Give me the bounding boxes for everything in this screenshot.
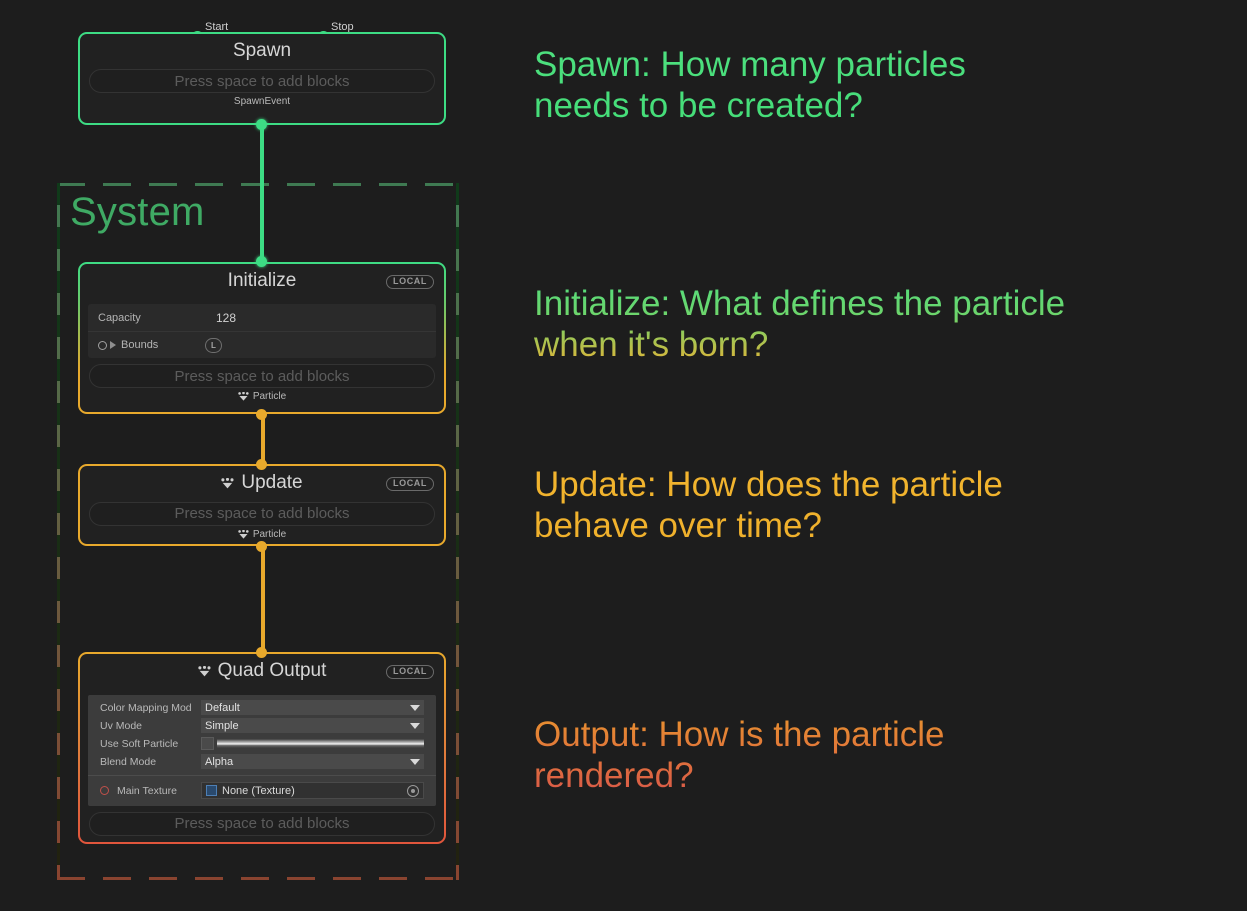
property-row-bounds[interactable]: Bounds L <box>88 331 436 358</box>
particle-icon <box>221 478 234 489</box>
system-group-border-left <box>57 183 60 880</box>
update-output-port[interactable] <box>256 541 267 552</box>
system-group-title[interactable]: System <box>70 192 205 232</box>
initialize-flow-out-label: Particle <box>80 388 444 406</box>
capacity-label: Capacity <box>98 312 216 324</box>
spawn-add-blocks-button[interactable]: Press space to add blocks <box>89 69 435 93</box>
initialize-local-badge: LOCAL <box>386 275 434 289</box>
initialize-input-port[interactable] <box>256 256 267 267</box>
update-node-title-text: Update <box>241 472 302 494</box>
uv-mode-label: Uv Mode <box>100 720 202 732</box>
update-local-badge: LOCAL <box>386 477 434 491</box>
update-add-blocks-button[interactable]: Press space to add blocks <box>89 502 435 526</box>
spawn-flow-out-text: SpawnEvent <box>234 96 290 107</box>
chevron-down-icon <box>410 759 420 765</box>
blend-mode-label: Blend Mode <box>100 756 202 768</box>
main-texture-label: Main Texture <box>117 785 199 797</box>
property-row-blend-mode[interactable]: Blend Mode Alpha <box>88 753 436 771</box>
particle-icon <box>238 530 249 539</box>
quad-output-node-title-text: Quad Output <box>218 660 327 682</box>
property-row-uv-mode[interactable]: Uv Mode Simple <box>88 717 436 735</box>
expander-triangle-icon[interactable] <box>110 341 116 349</box>
initialize-add-blocks-button[interactable]: Press space to add blocks <box>89 364 435 388</box>
use-soft-particle-control[interactable] <box>201 736 424 751</box>
capacity-value[interactable]: 128 <box>216 311 236 325</box>
spawn-node-title-text: Spawn <box>233 40 291 62</box>
update-node-title: Update LOCAL <box>80 466 444 502</box>
spawn-output-port[interactable] <box>256 119 267 130</box>
quad-output-properties-panel: Color Mapping Mod Default Uv Mode Simple… <box>88 695 436 806</box>
initialize-node-title: Initialize LOCAL <box>80 264 444 299</box>
main-texture-object-field[interactable]: None (Texture) <box>201 782 424 799</box>
particle-icon <box>198 666 211 677</box>
uv-mode-value: Simple <box>205 720 239 732</box>
property-row-main-texture[interactable]: Main Texture None (Texture) <box>88 780 436 802</box>
property-row-color-mapping-mode[interactable]: Color Mapping Mod Default <box>88 699 436 717</box>
chevron-down-icon <box>410 705 420 711</box>
initialize-node[interactable]: Initialize LOCAL Capacity 128 Bounds L P… <box>78 262 446 414</box>
system-group-border-top <box>57 183 459 186</box>
property-row-use-soft-particle[interactable]: Use Soft Particle <box>88 735 436 753</box>
initialize-node-body: Initialize LOCAL Capacity 128 Bounds L P… <box>80 264 444 412</box>
color-mapping-mode-dropdown[interactable]: Default <box>201 700 424 715</box>
wire-spawn-to-initialize <box>260 124 264 262</box>
spawn-node[interactable]: Spawn Press space to add blocks SpawnEve… <box>78 32 446 125</box>
exposed-property-icon[interactable] <box>100 786 109 795</box>
wire-update-to-output <box>261 545 265 663</box>
initialize-output-port[interactable] <box>256 409 267 420</box>
color-mapping-mode-label: Color Mapping Mod <box>100 702 202 714</box>
object-picker-icon[interactable] <box>407 785 419 797</box>
bounds-label: Bounds <box>121 339 205 351</box>
system-group-border-right <box>456 183 459 880</box>
initialize-flow-out-text: Particle <box>253 391 286 402</box>
chevron-down-icon <box>410 723 420 729</box>
annotation-spawn: Spawn: How many particles needs to be cr… <box>534 44 1224 127</box>
annotation-initialize: Initialize: What defines the particle wh… <box>534 283 1234 366</box>
color-mapping-mode-value: Default <box>205 702 240 714</box>
reset-icon[interactable] <box>98 341 107 350</box>
quad-output-add-blocks-button[interactable]: Press space to add blocks <box>89 812 435 836</box>
quad-output-node-body: Quad Output LOCAL Color Mapping Mod Defa… <box>80 654 444 842</box>
update-flow-out-text: Particle <box>253 529 286 540</box>
divider <box>88 775 436 776</box>
quad-output-node[interactable]: Quad Output LOCAL Color Mapping Mod Defa… <box>78 652 446 844</box>
spawn-node-body: Spawn Press space to add blocks SpawnEve… <box>80 34 444 123</box>
update-input-port[interactable] <box>256 459 267 470</box>
update-node-body: Update LOCAL Press space to add blocks P… <box>80 466 444 544</box>
use-soft-particle-label: Use Soft Particle <box>100 738 202 750</box>
system-group-border-bottom <box>57 877 459 880</box>
annotation-update: Update: How does the particle behave ove… <box>534 464 1224 547</box>
update-node[interactable]: Update LOCAL Press space to add blocks P… <box>78 464 446 546</box>
property-row-capacity[interactable]: Capacity 128 <box>88 304 436 331</box>
uv-mode-dropdown[interactable]: Simple <box>201 718 424 733</box>
quad-output-node-title: Quad Output LOCAL <box>80 654 444 690</box>
use-soft-particle-checkbox[interactable] <box>201 737 214 750</box>
bounds-space-badge[interactable]: L <box>205 338 222 353</box>
texture-thumbnail-icon <box>206 785 217 796</box>
main-texture-value: None (Texture) <box>222 785 295 797</box>
annotation-output: Output: How is the particle rendered? <box>534 714 1224 797</box>
blend-mode-dropdown[interactable]: Alpha <box>201 754 424 769</box>
render-artifact <box>217 739 424 748</box>
quad-output-local-badge: LOCAL <box>386 665 434 679</box>
quad-output-input-port[interactable] <box>256 647 267 658</box>
spawn-node-title: Spawn <box>80 34 444 69</box>
spawn-flow-out-label: SpawnEvent <box>80 93 444 111</box>
blend-mode-value: Alpha <box>205 756 233 768</box>
initialize-node-title-text: Initialize <box>228 270 297 292</box>
particle-icon <box>238 392 249 401</box>
vfx-graph-canvas: System Start Stop Spawn Press space to a… <box>0 0 1247 911</box>
initialize-properties-panel: Capacity 128 Bounds L <box>88 304 436 358</box>
